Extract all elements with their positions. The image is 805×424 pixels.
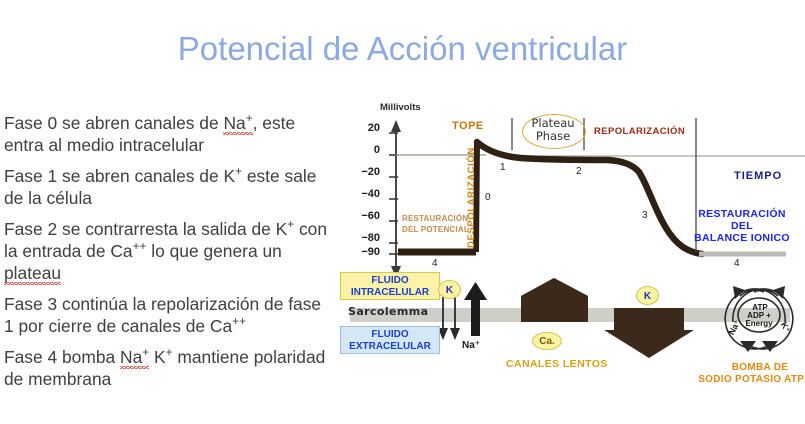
balance-ionico-line3: BALANCE IONICO: [680, 232, 804, 244]
calcium-ion-label: Ca.: [532, 332, 562, 350]
y-tick-minus80: −80: [344, 232, 380, 244]
y-tick-minus60: −60: [344, 210, 380, 222]
bullet-list: Fase 0 se abren canales de Na+, este ent…: [4, 112, 334, 399]
y-tick-minus40: −40: [344, 188, 380, 200]
sarcolemma-label: Sarcolemma: [348, 305, 428, 318]
sodium-influx-label: Na⁺: [462, 340, 480, 351]
action-potential-figure: Millivolts 20 0 −20 −40 −60 −80 −90 TOPE…: [336, 100, 805, 400]
restauracion-potencial-line2: DEL POTENCIAL: [402, 225, 469, 235]
y-tick-20: 20: [344, 122, 380, 134]
fluido-intracelular-line1: FLUIDO: [341, 275, 439, 287]
potassium-ion-left: K: [438, 280, 461, 299]
misspelled-plateau: plateau: [4, 263, 61, 285]
adp-label-line2: Energy: [736, 320, 782, 329]
bullet-fase-1: Fase 1 se abren canales de K+ este sale …: [4, 165, 334, 209]
repolarizacion-label: REPOLARIZACIÓN: [594, 126, 685, 137]
y-axis-arrow-up: [391, 120, 401, 132]
potassium-channel: [604, 308, 694, 358]
balance-ionico-line1: RESTAURACIÓN: [680, 208, 804, 220]
y-axis-title: Millivolts: [380, 102, 421, 113]
phase-number-4-right: 4: [734, 258, 740, 269]
tope-label: TOPE: [452, 120, 484, 132]
bomba-sodio-potasio-line1: BOMBA DE: [692, 362, 805, 374]
restauracion-potencial-line1: RESTAURACIÓN: [402, 214, 468, 224]
phase-number-4-left: 4: [432, 258, 438, 269]
potassium-ion-right: K: [636, 286, 659, 305]
bullet-fase-3: Fase 3 continúa la repolarización de fas…: [4, 293, 334, 337]
y-tick-minus20: −20: [344, 166, 380, 178]
y-tick-minus90: −90: [344, 246, 380, 258]
plateau-phase-line2: Phase: [522, 130, 584, 143]
bullet-fase-0: Fase 0 se abren canales de Na+, este ent…: [4, 112, 334, 156]
fluido-intracelular-line2: INTRACELULAR: [341, 287, 439, 299]
fluido-extracelular-line2: EXTRACELULAR: [341, 341, 439, 353]
fluido-extracelular-box: FLUIDO EXTRACELULAR: [340, 326, 440, 354]
phase-number-1: 1: [500, 162, 506, 173]
balance-ionico-line2: DEL: [680, 220, 804, 232]
y-tick-0: 0: [344, 144, 380, 156]
phase-number-3: 3: [642, 210, 648, 221]
bullet-fase-4: Fase 4 bomba Na+ K+ mantiene polaridad d…: [4, 346, 334, 390]
bullet-fase-2: Fase 2 se contrarresta la salida de K+ c…: [4, 218, 334, 284]
misspelled-na-0: Na+: [223, 113, 252, 135]
phase-number-2: 2: [576, 166, 582, 177]
page-title: Potencial de Acción ventricular: [0, 30, 805, 68]
tiempo-label: TIEMPO: [734, 170, 782, 182]
phase-number-0: 0: [485, 192, 491, 203]
bomba-sodio-potasio-line2: SODIO POTASIO ATPasa: [682, 374, 805, 386]
canales-lentos-label: CANALES LENTOS: [506, 358, 608, 370]
fluido-extracelular-line1: FLUIDO: [341, 329, 439, 341]
calcium-slow-channel: [521, 278, 588, 322]
fluido-intracelular-box: FLUIDO INTRACELULAR: [340, 272, 440, 300]
misspelled-na-4: Na+: [120, 347, 149, 369]
slide-root: Potencial de Acción ventricular Fase 0 s…: [0, 0, 805, 424]
